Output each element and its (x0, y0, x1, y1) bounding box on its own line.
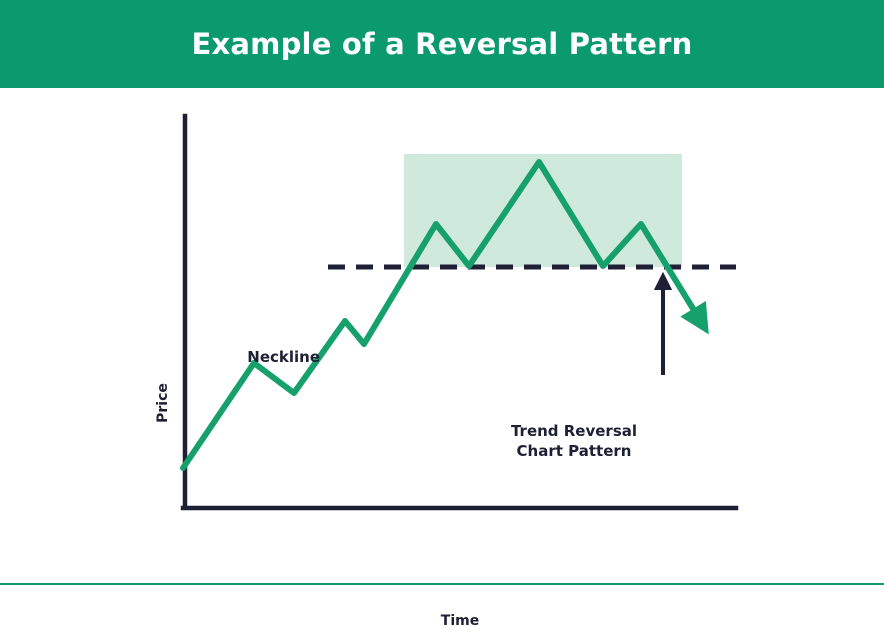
trend-reversal-line-2: Chart Pattern (498, 441, 650, 461)
header-banner: Example of a Reversal Pattern (0, 0, 884, 88)
x-axis-label: Time (405, 613, 515, 629)
chart-page: Example of a Reversal Pattern (0, 0, 884, 587)
chart-canvas: Price Time Neckline Trend Reversal Chart… (0, 88, 884, 583)
page-title: Example of a Reversal Pattern (192, 30, 693, 59)
trend-reversal-annotation: Trend Reversal Chart Pattern (498, 421, 650, 461)
footer-divider (0, 583, 884, 585)
neckline-label: Neckline (210, 348, 320, 366)
reversal-pattern-chart (0, 88, 884, 583)
y-axis-label: Price (123, 388, 203, 418)
trend-reversal-line-1: Trend Reversal (498, 421, 650, 441)
